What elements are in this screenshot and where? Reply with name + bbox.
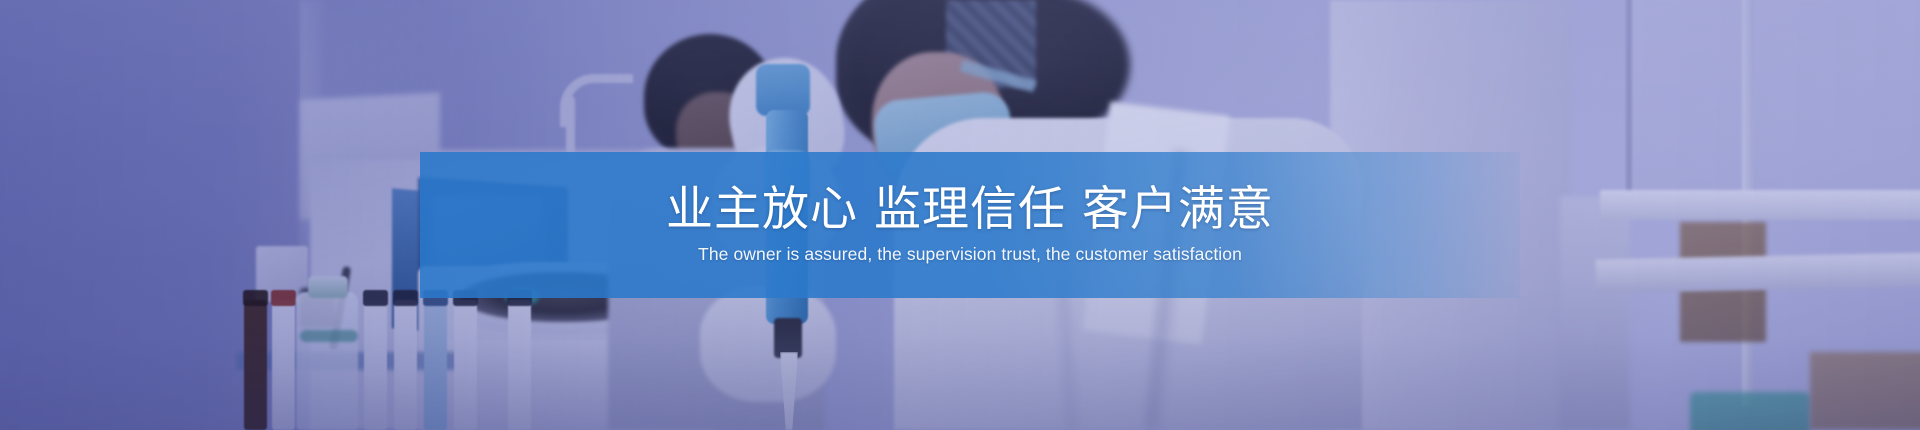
banner-headline: 业主放心 监理信任 客户满意 [666,185,1274,234]
banner-text-block: 业主放心 监理信任 客户满意 The owner is assured, the… [420,152,1520,298]
hero-banner: 业主放心 监理信任 客户满意 The owner is assured, the… [0,0,1920,430]
banner-subheadline: The owner is assured, the supervision tr… [698,244,1242,265]
